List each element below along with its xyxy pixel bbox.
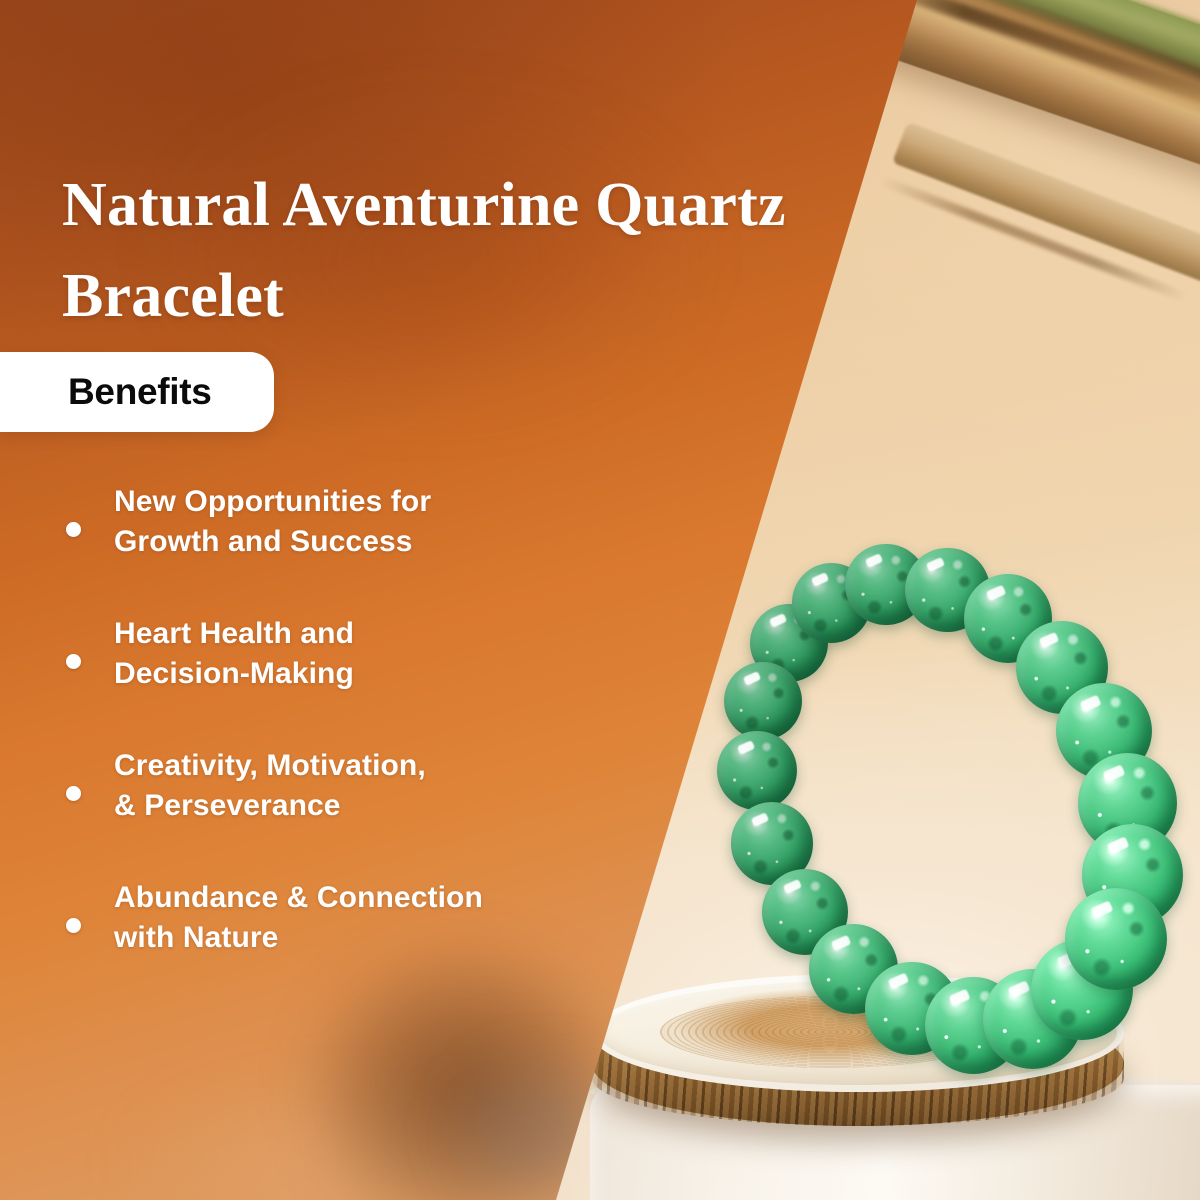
benefit-item: New Opportunities forGrowth and Success [62,482,602,582]
bullet-dot-icon [66,786,81,801]
benefit-line-2: Growth and Success [114,525,413,558]
benefit-line-1: New Opportunities for [114,485,431,518]
bracelet-bead [1065,888,1167,990]
benefit-line-2: & Perseverance [114,789,341,822]
bullet-dot-icon [66,654,81,669]
benefits-list: New Opportunities forGrowth and SuccessH… [62,482,602,978]
page-title: Natural Aventurine Quartz Bracelet [62,160,872,342]
benefit-text: Abundance & Connectionwith Nature [114,881,483,954]
product-marketing-card: Natural Aventurine Quartz Bracelet Benef… [0,0,1200,1200]
benefit-line-1: Abundance & Connection [114,881,483,914]
benefit-line-2: with Nature [114,921,278,954]
bracelet-bead [717,731,797,811]
bullet-dot-icon [66,522,81,537]
bracelet-bead [724,662,802,740]
benefit-item: Heart Health andDecision-Making [62,614,602,714]
bullet-dot-icon [66,918,81,933]
benefit-line-1: Heart Health and [114,617,354,650]
benefits-badge: Benefits [0,352,274,432]
benefit-item: Creativity, Motivation,& Perseverance [62,746,602,846]
page-title-line-2: Bracelet [62,262,284,330]
benefit-line-1: Creativity, Motivation, [114,749,426,782]
benefits-badge-label: Benefits [68,371,212,413]
page-title-line-1: Natural Aventurine Quartz [62,171,786,239]
benefit-line-2: Decision-Making [114,657,354,690]
benefit-text: New Opportunities forGrowth and Success [114,485,431,558]
benefit-text: Creativity, Motivation,& Perseverance [114,749,426,822]
benefit-text: Heart Health andDecision-Making [114,617,354,690]
benefit-item: Abundance & Connectionwith Nature [62,878,602,978]
